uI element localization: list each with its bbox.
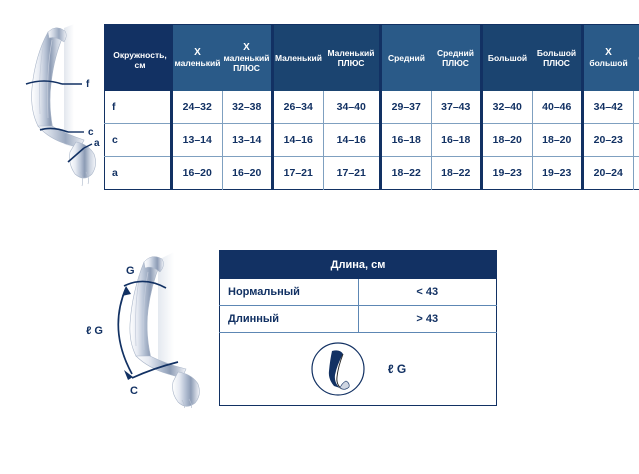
size-cell: 18–22: [431, 157, 482, 190]
size-col-sub: Средний: [383, 53, 430, 63]
size-table-corner-header: Окружность, см: [105, 25, 172, 92]
size-col-sub: маленький: [223, 53, 270, 63]
arm-diagram-svg: f c a: [18, 22, 108, 197]
size-cell: 19–23: [482, 157, 533, 190]
length-table-head: Длина, см: [220, 251, 497, 280]
size-col-header-medium-plus: Средний ПЛЮС: [431, 25, 482, 92]
size-col-plus: ПЛЮС: [223, 63, 270, 73]
length-row-name: Нормальный: [220, 279, 359, 306]
length-icon-row: ℓ G: [220, 333, 497, 406]
size-cell: 19–23: [532, 157, 583, 190]
length-table-body: Нормальный < 43 Длинный > 43 ℓ: [220, 279, 497, 406]
size-col-sub: Большой: [533, 48, 580, 58]
size-col-sub: Маленький: [275, 53, 322, 63]
size-table-header-row: Окружность, см X маленький X маленький П…: [105, 25, 639, 92]
size-cell: 14–16: [273, 124, 324, 157]
size-col-x-prefix: X: [174, 48, 221, 59]
size-col-x-prefix: X: [634, 43, 639, 54]
table-row: а 16–20 16–20 17–21 17–21 18–22 18–22 19…: [105, 157, 639, 190]
size-col-header-x-small: X маленький: [172, 25, 223, 92]
size-col-header-small: Маленький: [273, 25, 324, 92]
size-col-header-large-plus: Большой ПЛЮС: [532, 25, 583, 92]
size-col-header-small-plus: Маленький ПЛЮС: [323, 25, 381, 92]
circumference-size-table: Окружность, см X маленький X маленький П…: [104, 24, 639, 190]
table-row: f 24–32 32–38 26–34 34–40 29–37 37–43 32…: [105, 91, 639, 124]
size-table-head: Окружность, см X маленький X маленький П…: [105, 25, 639, 92]
size-col-plus: ПЛЮС: [324, 58, 378, 68]
diagram-label-a: a: [94, 138, 100, 149]
size-cell: 26–34: [273, 91, 324, 124]
arm-length-diagram-svg: G C ℓ G: [82, 248, 212, 408]
diagram-label-lg: ℓ G: [86, 325, 103, 337]
size-cell: 16–20: [222, 157, 273, 190]
arm-length-diagram: G C ℓ G: [82, 248, 212, 408]
size-cell: 20–24: [633, 157, 639, 190]
size-col-sub: большой: [634, 53, 639, 63]
table-row: Нормальный < 43: [220, 279, 497, 306]
size-col-sub: Большой: [484, 53, 531, 63]
size-cell: 17–21: [273, 157, 324, 190]
size-cell: 13–14: [172, 124, 223, 157]
size-col-x-prefix: X: [585, 48, 632, 59]
size-row-label: f: [105, 91, 172, 124]
size-cell: 20–23: [583, 124, 634, 157]
table-row: c 13–14 13–14 14–16 14–16 16–18 16–18 18…: [105, 124, 639, 157]
diagram-label-c: c: [88, 127, 94, 138]
length-row-value: < 43: [358, 279, 497, 306]
diagram-label-f: f: [86, 79, 90, 90]
size-cell: 16–18: [381, 124, 432, 157]
size-cell: 34–40: [323, 91, 381, 124]
length-table-title: Длина, см: [220, 251, 497, 280]
table-row: Длинный > 43: [220, 306, 497, 333]
size-col-header-large: Большой: [482, 25, 533, 92]
size-col-x-prefix: X: [223, 43, 270, 54]
size-cell: 42–48: [633, 91, 639, 124]
size-cell: 37–43: [431, 91, 482, 124]
size-col-header-x-small-plus: X маленький ПЛЮС: [222, 25, 273, 92]
size-col-header-x-large-plus: X большой ПЛЮС: [633, 25, 639, 92]
length-row-value: > 43: [358, 306, 497, 333]
size-col-sub: большой: [585, 58, 632, 68]
length-icon-wrapper: ℓ G: [221, 341, 495, 397]
size-cell: 32–38: [222, 91, 273, 124]
diagram-label-c-bottom: C: [130, 385, 138, 397]
length-table-header-row: Длина, см: [220, 251, 497, 280]
size-cell: 14–16: [323, 124, 381, 157]
size-cell: 20–23: [633, 124, 639, 157]
size-row-label: c: [105, 124, 172, 157]
size-cell: 40–46: [532, 91, 583, 124]
length-icon-cell: ℓ G: [220, 333, 497, 406]
size-col-sub: Маленький: [324, 48, 378, 58]
size-row-label: а: [105, 157, 172, 190]
size-cell: 17–21: [323, 157, 381, 190]
length-icon-label: ℓ G: [388, 362, 407, 376]
size-cell: 24–32: [172, 91, 223, 124]
arm-measurement-diagram: f c a: [18, 22, 108, 197]
size-col-sub: маленький: [174, 58, 221, 68]
size-table-body: f 24–32 32–38 26–34 34–40 29–37 37–43 32…: [105, 91, 639, 190]
size-cell: 18–22: [381, 157, 432, 190]
size-cell: 18–20: [532, 124, 583, 157]
size-col-sub: Средний: [432, 48, 479, 58]
size-cell: 32–40: [482, 91, 533, 124]
size-cell: 29–37: [381, 91, 432, 124]
size-col-plus: ПЛЮС: [432, 58, 479, 68]
length-table: Длина, см Нормальный < 43 Длинный > 43: [219, 250, 497, 406]
size-col-plus: ПЛЮС: [634, 63, 639, 73]
size-cell: 20–24: [583, 157, 634, 190]
size-col-plus: ПЛЮС: [533, 58, 580, 68]
arm-sleeve-icon: [310, 341, 366, 397]
diagram-label-g: G: [126, 265, 135, 277]
length-row-name: Длинный: [220, 306, 359, 333]
size-col-header-medium: Средний: [381, 25, 432, 92]
size-cell: 34–42: [583, 91, 634, 124]
size-cell: 16–20: [172, 157, 223, 190]
size-cell: 16–18: [431, 124, 482, 157]
size-col-header-x-large: X большой: [583, 25, 634, 92]
size-cell: 18–20: [482, 124, 533, 157]
page-root: f c a Окружность, см X маленький X мален…: [0, 0, 639, 474]
size-cell: 13–14: [222, 124, 273, 157]
